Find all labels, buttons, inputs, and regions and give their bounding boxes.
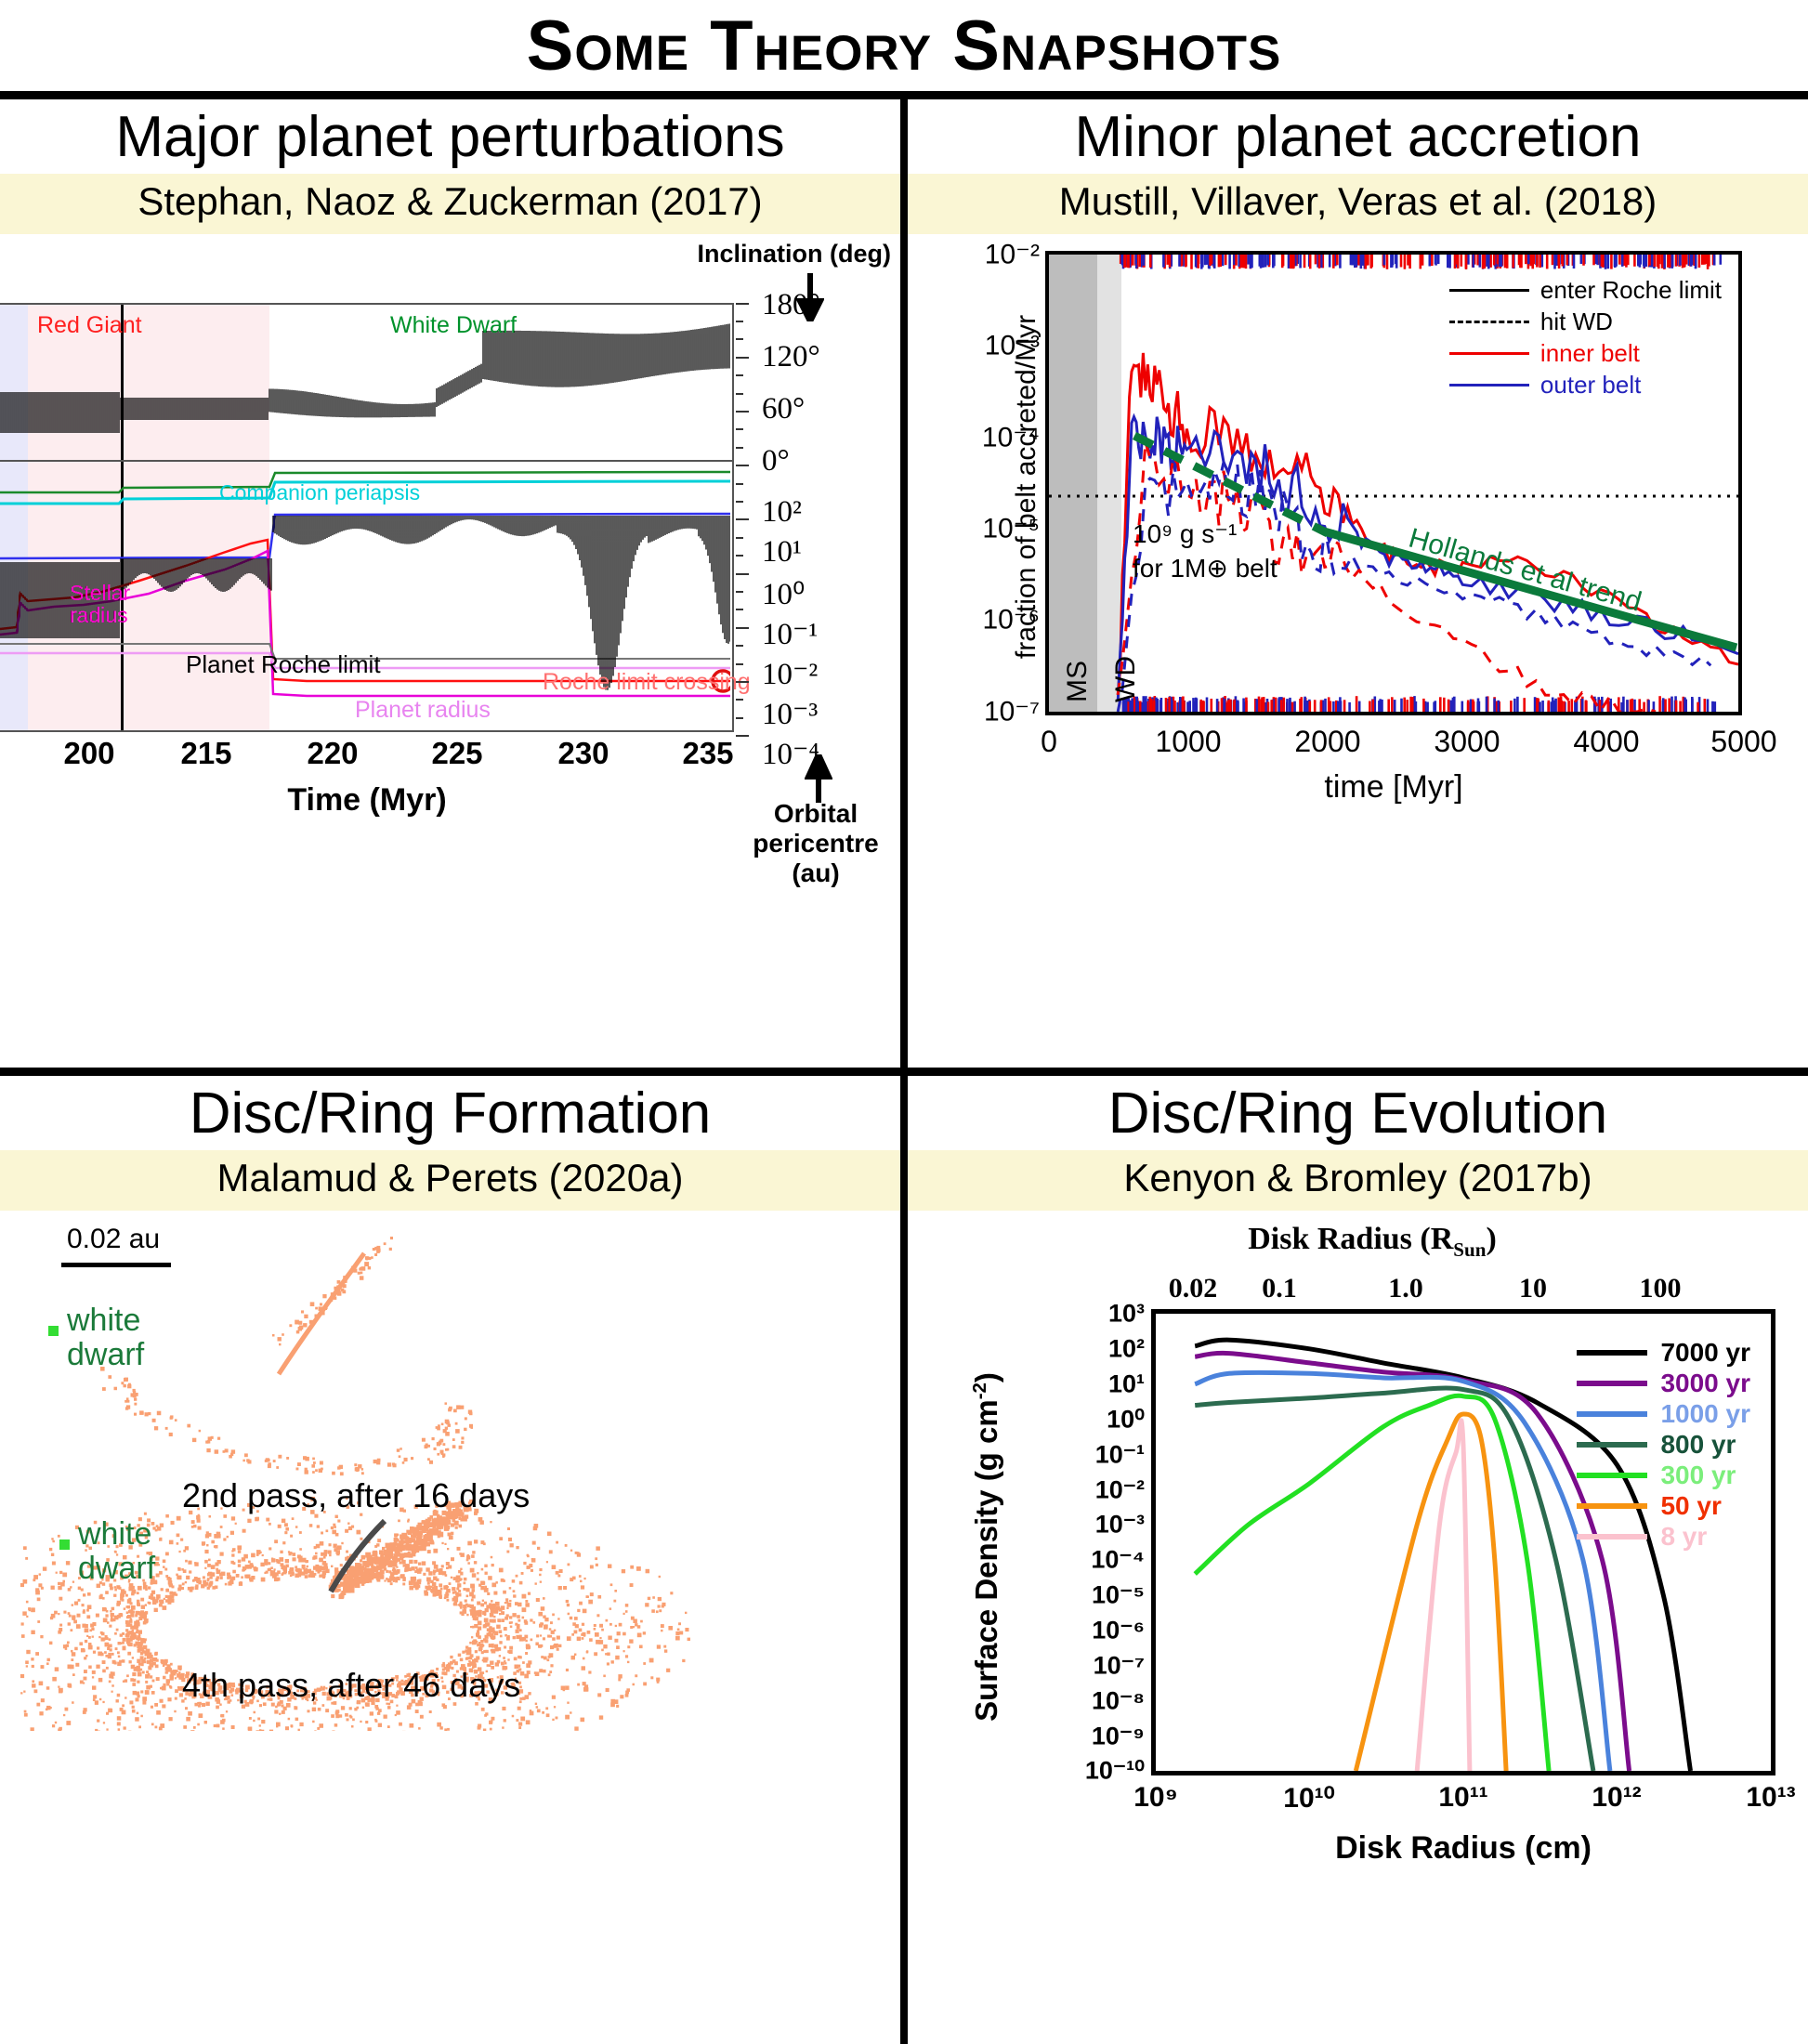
minor-ytick-1e-2: 10⁻² — [985, 238, 1040, 270]
legend-item-outer-belt[interactable]: outer belt — [1449, 370, 1722, 401]
top-axis-sub: Sun — [1453, 1238, 1486, 1260]
evo-ytick-1em8: 10⁻⁸ — [1092, 1686, 1145, 1715]
xtick-200: 200 — [63, 736, 114, 771]
ytick-0: 0° — [762, 444, 790, 478]
major-x-axis: 200 215 220 225 230 235 — [0, 736, 734, 777]
legend-item-50yr[interactable]: 50 yr — [1577, 1491, 1750, 1522]
evolution-y-axis-label: Surface Density (g cm-2) — [969, 1372, 1004, 1722]
evolution-bottom-axis-label: Disk Radius (cm) — [1335, 1830, 1592, 1867]
panel-major-planet-perturbations: Major planet perturbations Stephan, Naoz… — [0, 99, 900, 1068]
xtick-230: 230 — [557, 736, 609, 771]
legend-item-7000yr[interactable]: 7000 yr — [1577, 1338, 1750, 1369]
page-title: Some Theory Snapshots — [0, 0, 1808, 91]
annotation-red-giant: Red Giant — [37, 312, 142, 339]
ytick-1em3: 10⁻³ — [762, 695, 818, 732]
legend-item-300yr[interactable]: 300 yr — [1577, 1461, 1750, 1491]
xtick-225: 225 — [431, 736, 482, 771]
evo-ytick-1em9: 10⁻⁹ — [1092, 1722, 1145, 1750]
panel-disc-ring-evolution: Disc/Ring Evolution Kenyon & Bromley (20… — [908, 1076, 1808, 2044]
legend-item-inner-belt[interactable]: inner belt — [1449, 338, 1722, 370]
legend-swatch-enter-roche-limit — [1449, 289, 1529, 292]
ytick-60: 60° — [762, 392, 805, 426]
panel-body-evolution: Disk Radius (RSun) 0 — [908, 1211, 1808, 2044]
minor-xtick-2000: 2000 — [1294, 725, 1360, 759]
minor-legend: enter Roche limit hit WD inner belt — [1449, 275, 1722, 401]
minor-ytick-1e-7: 10⁻⁷ — [984, 695, 1040, 727]
minor-x-axis-label: time [Myr] — [1324, 769, 1462, 806]
minor-xtick-4000: 4000 — [1573, 725, 1639, 759]
legend-label-50yr: 50 yr — [1660, 1491, 1721, 1521]
legend-label-1000yr: 1000 yr — [1660, 1399, 1750, 1429]
evo-ytick-1em7: 10⁻⁷ — [1094, 1651, 1145, 1680]
evo-ytick-1em1: 10⁻¹ — [1095, 1440, 1145, 1469]
title-divider — [0, 91, 1808, 99]
evo-ytick-1em3: 10⁻³ — [1095, 1510, 1145, 1539]
evo-ytick-1e2: 10² — [1108, 1334, 1145, 1363]
evo-top-xtick-0.1: 0.1 — [1262, 1273, 1297, 1304]
panel-disc-ring-formation: Disc/Ring Formation Malamud & Perets (20… — [0, 1076, 900, 2044]
annotation-planet-radius: Planet radius — [355, 697, 491, 724]
legend-label-7000yr: 7000 yr — [1660, 1338, 1750, 1368]
panel-citation-minor: Mustill, Villaver, Veras et al. (2018) — [908, 174, 1808, 234]
evo-ytick-1e3: 10³ — [1108, 1299, 1145, 1328]
xtick-215: 215 — [180, 736, 231, 771]
annotation-companion-periapsis: Companion periapsis — [219, 480, 420, 505]
legend-label-3000yr: 3000 yr — [1660, 1369, 1750, 1398]
minor-plot-area: 10⁻² 10⁻³ 10⁻⁴ 10⁻⁵ 10⁻⁶ 10⁻⁷ fraction o… — [1045, 251, 1742, 715]
ytick-1em1: 10⁻¹ — [762, 615, 818, 652]
white-dwarf-marker-bottom — [59, 1540, 70, 1550]
pericentre-axis-label: Orbitalpericentre(au) — [734, 799, 897, 889]
panel-citation-evolution: Kenyon & Bromley (2017b) — [908, 1150, 1808, 1211]
annotation-stellar-radius: Stellarradius — [70, 582, 130, 626]
evo-top-xtick-0.02: 0.02 — [1169, 1273, 1218, 1304]
white-dwarf-marker-top — [48, 1326, 59, 1336]
xtick-235: 235 — [682, 736, 733, 771]
legend-item-800yr[interactable]: 800 yr — [1577, 1430, 1750, 1461]
legend-label-8yr: 8 yr — [1660, 1522, 1707, 1552]
major-x-axis-title: Time (Myr) — [0, 782, 734, 819]
annotation-accretion-rate: 10⁹ g s⁻¹ for 1M⊕ belt — [1133, 517, 1277, 587]
evo-top-xtick-10: 10 — [1519, 1273, 1547, 1304]
top-axis-main: Disk Radius (R — [1248, 1222, 1453, 1256]
xtick-220: 220 — [307, 736, 358, 771]
minor-xtick-1000: 1000 — [1155, 725, 1221, 759]
evo-ytick-1e1: 10¹ — [1108, 1369, 1145, 1398]
ytick-1e1: 10¹ — [762, 535, 802, 570]
evolution-legend: 7000 yr 3000 yr 1000 yr — [1577, 1338, 1750, 1553]
legend-swatch-3000yr — [1577, 1381, 1647, 1386]
legend-swatch-800yr — [1577, 1442, 1647, 1448]
legend-item-1000yr[interactable]: 1000 yr — [1577, 1399, 1750, 1430]
minor-y-axis-label: fraction of belt accreted/Myr — [1011, 314, 1042, 658]
white-dwarf-label-top: whitedwarf — [67, 1304, 144, 1373]
vertical-divider-bottom — [900, 1076, 908, 2044]
caption-fourth-pass: 4th pass, after 46 days — [182, 1666, 520, 1705]
evo-ytick-1em2: 10⁻² — [1095, 1475, 1145, 1504]
panel-title-minor: Minor planet accretion — [908, 99, 1808, 174]
minor-xtick-0: 0 — [1041, 725, 1057, 759]
legend-swatch-inner-belt — [1449, 352, 1529, 355]
legend-item-enter-roche-limit[interactable]: enter Roche limit — [1449, 275, 1722, 307]
evo-ytick-1em10: 10⁻¹⁰ — [1085, 1756, 1145, 1785]
minor-xtick-3000: 3000 — [1434, 725, 1500, 759]
horizontal-divider — [0, 1068, 1808, 1076]
evo-xtick-1e11: 10¹¹ — [1438, 1782, 1487, 1814]
evo-xtick-1e13: 10¹³ — [1746, 1782, 1795, 1814]
ytick-180: 180° — [762, 288, 820, 322]
legend-swatch-50yr — [1577, 1503, 1647, 1509]
evo-xtick-1e9: 10⁹ — [1133, 1782, 1178, 1814]
evo-ytick-1em6: 10⁻⁶ — [1092, 1616, 1145, 1644]
top-axis-end: ) — [1486, 1222, 1496, 1256]
evo-ytick-1e0: 10⁰ — [1107, 1405, 1145, 1434]
vertical-divider-top — [900, 99, 908, 1068]
panel-citation-formation: Malamud & Perets (2020a) — [0, 1150, 900, 1211]
panel-body-major: Inclination (deg) — [0, 234, 900, 1068]
legend-swatch-8yr — [1577, 1534, 1647, 1540]
legend-item-8yr[interactable]: 8 yr — [1577, 1522, 1750, 1553]
evolution-top-axis-label: Disk Radius (RSun) — [1248, 1222, 1497, 1262]
annotation-roche-limit-crossing: Roche limit crossing — [543, 669, 751, 696]
annotation-ms-phase: MS — [1062, 661, 1094, 702]
major-plot-area: Red Giant White Dwarf Companion periapsi… — [0, 303, 734, 732]
legend-item-hit-wd[interactable]: hit WD — [1449, 307, 1722, 338]
panel-title-major: Major planet perturbations — [0, 99, 900, 174]
annotation-accretion-rate-line2: for 1M⊕ belt — [1133, 554, 1277, 583]
panel-body-formation: 0.02 au whitedwarf 2nd pass, after 16 da… — [0, 1211, 900, 2044]
legend-label-hit-wd: hit WD — [1540, 308, 1613, 336]
panel-title-formation: Disc/Ring Formation — [0, 1076, 900, 1150]
evo-ytick-1em5: 10⁻⁵ — [1092, 1580, 1145, 1609]
panel-citation-major: Stephan, Naoz & Zuckerman (2017) — [0, 174, 900, 234]
ytick-1e2: 10² — [762, 495, 802, 530]
legend-swatch-hit-wd — [1449, 321, 1529, 323]
panel-grid: Major planet perturbations Stephan, Naoz… — [0, 99, 1808, 2044]
evo-xtick-1e10: 10¹⁰ — [1283, 1782, 1334, 1815]
major-right-axis: 180° 120° 60° 0° 10² 10¹ 10⁰ 10⁻¹ 10⁻² 1… — [736, 303, 899, 738]
legend-label-800yr: 800 yr — [1660, 1430, 1736, 1460]
annotation-accretion-rate-line1: 10⁹ g s⁻¹ — [1133, 519, 1237, 548]
inclination-axis-label: Inclination (deg) — [698, 240, 892, 269]
annotation-white-dwarf: White Dwarf — [390, 312, 517, 339]
debris-simulation-canvas — [0, 1211, 900, 1731]
legend-label-300yr: 300 yr — [1660, 1461, 1736, 1490]
evo-xtick-1e12: 10¹² — [1592, 1782, 1641, 1814]
panel-title-evolution: Disc/Ring Evolution — [908, 1076, 1808, 1150]
legend-label-inner-belt: inner belt — [1540, 339, 1640, 368]
annotation-planet-roche-limit: Planet Roche limit — [186, 650, 381, 679]
legend-swatch-7000yr — [1577, 1350, 1647, 1356]
ytick-1em2: 10⁻² — [762, 655, 818, 692]
evolution-plot-area: 0.02 0.1 1.0 10 100 10⁹ 10¹⁰ 10¹¹ 10¹² 1… — [1151, 1309, 1775, 1775]
evo-ytick-1em4: 10⁻⁴ — [1091, 1545, 1145, 1574]
panel-minor-planet-accretion: Minor planet accretion Mustill, Villaver… — [908, 99, 1808, 1068]
legend-label-enter-roche-limit: enter Roche limit — [1540, 276, 1722, 305]
evo-top-xtick-1.0: 1.0 — [1388, 1273, 1423, 1304]
annotation-wd-phase: WD — [1110, 656, 1142, 702]
legend-label-outer-belt: outer belt — [1540, 371, 1641, 400]
minor-xtick-5000: 5000 — [1710, 725, 1776, 759]
evo-top-xtick-100: 100 — [1640, 1273, 1682, 1304]
ytick-120: 120° — [762, 340, 820, 374]
poster-root: Some Theory Snapshots Major planet pertu… — [0, 0, 1808, 2044]
legend-swatch-300yr — [1577, 1473, 1647, 1478]
legend-swatch-outer-belt — [1449, 384, 1529, 387]
legend-item-3000yr[interactable]: 3000 yr — [1577, 1369, 1750, 1399]
panel-body-minor: 10⁻² 10⁻³ 10⁻⁴ 10⁻⁵ 10⁻⁶ 10⁻⁷ fraction o… — [908, 234, 1808, 1068]
caption-second-pass: 2nd pass, after 16 days — [182, 1476, 530, 1515]
legend-swatch-1000yr — [1577, 1411, 1647, 1417]
white-dwarf-label-bottom: whitedwarf — [78, 1517, 155, 1587]
ytick-1e0: 10⁰ — [762, 575, 805, 612]
